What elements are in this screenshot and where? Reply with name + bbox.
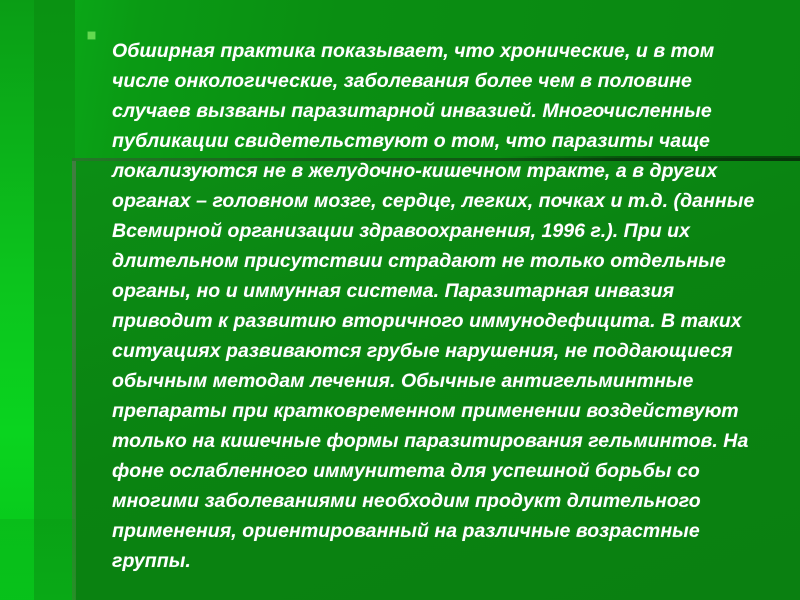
slide-content: Обширная практика показывает, что хронич… bbox=[0, 0, 800, 600]
square-bullet-icon bbox=[88, 32, 95, 39]
bullet-list-item: Обширная практика показывает, что хронич… bbox=[88, 16, 768, 595]
bullet-paragraph-text: Обширная практика показывает, что хронич… bbox=[112, 36, 768, 576]
slide-canvas: Обширная практика показывает, что хронич… bbox=[0, 0, 800, 600]
